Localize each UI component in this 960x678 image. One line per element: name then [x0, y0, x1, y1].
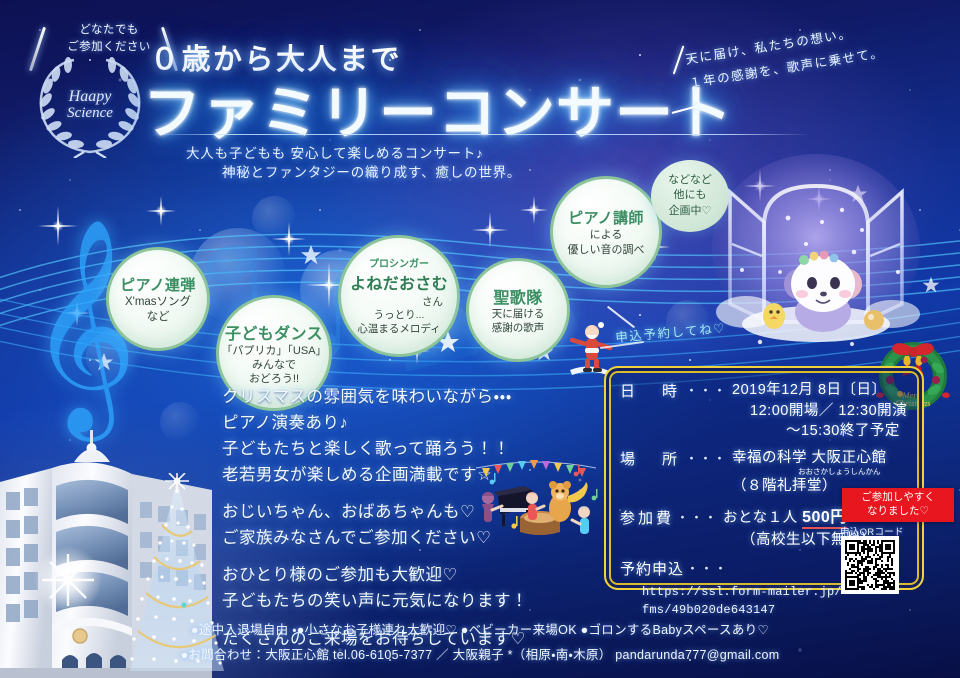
- bubble-line: による: [590, 228, 623, 242]
- detail-dots: ・・・: [685, 380, 727, 442]
- qr-code[interactable]: [841, 536, 899, 594]
- kicker-text: どなたでも ご参加ください: [54, 22, 164, 55]
- singer-name-suffix: さん: [422, 294, 443, 309]
- detail-label: 参加費: [620, 507, 674, 550]
- badge-line-1: ご参加しやすく: [861, 491, 934, 505]
- bubble-piano-duet[interactable]: ピアノ連弾 X'masソング など: [106, 247, 210, 351]
- sparkle: [146, 196, 176, 226]
- bubble-heading: ピアノ講師: [568, 207, 644, 228]
- bubble-line: X'masソング: [125, 295, 191, 310]
- bubble-line: 「パプリカ」「USA」: [221, 344, 326, 358]
- copy-line: クリスマスの雰囲気を味わいながら・・・: [222, 384, 528, 410]
- badge-line-2: なりました♡: [867, 505, 929, 519]
- detail-dots: ・・・: [686, 558, 728, 579]
- title-divider: [150, 134, 810, 135]
- bubble-line: 他にも: [674, 188, 707, 204]
- detail-dots: ・・・: [676, 507, 718, 550]
- datetime-date: 2019年12月 8日〔日〕: [732, 382, 886, 398]
- bubble-pro-singer[interactable]: プロシンガー よねだおさむ さん うっとり... 心温まるメロディ: [338, 235, 460, 357]
- footer-line-1: ●途中入退場自由 ・●小さなお子様連れ大歓迎♡ ●ベビーカー来場OK ●ゴロンす…: [0, 618, 960, 643]
- bubble-eyebrow: プロシンガー: [369, 255, 429, 270]
- singer-name: よねだおさむ: [350, 270, 448, 294]
- bubble-line: 優しい音の調べ: [568, 243, 645, 257]
- status-badge-easier-to-join: ご参加しやすく なりました♡: [842, 488, 954, 522]
- copy-line: ピアノ演奏あり♪: [222, 410, 528, 436]
- subtitle-line-1: 大人も子どもも 安心して楽しめるコンサート♪: [186, 142, 484, 162]
- bubble-line: など: [147, 310, 170, 325]
- bubble-line: 感謝の歌声: [492, 322, 545, 336]
- subtitle-line-2: 神秘とファンタジーの織り成す、癒しの世界。: [222, 161, 521, 181]
- bubble-heading: ピアノ連弾: [120, 274, 196, 295]
- animal-band-illustration: [472, 452, 600, 540]
- copy-line: おひとり様のご参加も大歓迎♡: [222, 562, 528, 588]
- emblem-wordmark: Haapy Science: [26, 52, 154, 158]
- copy-spacer: [222, 551, 528, 562]
- datetime-open: 12:00開場／ 12:30開演: [732, 401, 907, 422]
- bubble-heading: 聖歌隊: [493, 284, 542, 308]
- bubble-line: 企画中♡: [669, 204, 712, 220]
- reservation-url-line-2: fms/49b020de643147: [642, 601, 920, 619]
- bubble-line: 心温まるメロディ: [357, 323, 440, 337]
- bubble-choir[interactable]: 聖歌隊 天に届ける 感謝の歌声: [466, 258, 570, 362]
- emblem-line-1: Haapy: [69, 89, 112, 106]
- detail-label: 場 所: [620, 448, 683, 497]
- bubble-line: 天に届ける: [492, 308, 545, 322]
- fee-prefix: おとな１人: [723, 510, 802, 526]
- page-title: ファミリーコンサート: [143, 66, 733, 150]
- venue-name: 幸福の科学 大阪正心館: [732, 450, 887, 466]
- detail-dots: ・・・: [685, 448, 727, 497]
- bubble-piano-teacher[interactable]: ピアノ講師 による 優しい音の調べ: [550, 176, 662, 288]
- venue-ruby: おおさかしょうしんかん: [732, 467, 887, 476]
- poster-canvas: どなたでも ご参加ください: [0, 0, 960, 678]
- star-shape: [300, 244, 322, 266]
- handwritten-note: 天に届け、私たちの想い。 １年の感謝を、歌声に乗せて。: [684, 9, 942, 121]
- bubble-line: うっとり...: [374, 309, 425, 323]
- bubble-heading: 子どもダンス: [225, 320, 323, 344]
- detail-row-datetime: 日 時 ・・・ 2019年12月 8日〔日〕 12:00開場／ 12:30開演 …: [620, 380, 920, 442]
- bubble-line: などなど: [668, 173, 712, 189]
- bubble-more-coming[interactable]: などなど 他にも 企画中♡: [651, 160, 729, 232]
- footer-line-2: ●お問合わせ：大阪正心館 tel.06-6105-7377 ／ 大阪親子 *（相…: [0, 643, 960, 668]
- venue-floor: （８階礼拝堂）: [732, 478, 837, 494]
- datetime-end: 〜15:30終了予定: [732, 421, 907, 442]
- detail-value: 2019年12月 8日〔日〕 12:00開場／ 12:30開演 〜15:30終了…: [732, 380, 907, 442]
- kicker-line-1: どなたでも: [54, 22, 164, 39]
- sparkle: [520, 196, 548, 224]
- bubble-line: みんなで: [252, 358, 296, 372]
- detail-label: 予約申込: [620, 558, 684, 579]
- footer-notes: ●途中入退場自由 ・●小さなお子様連れ大歓迎♡ ●ベビーカー来場OK ●ゴロンす…: [0, 618, 960, 668]
- qr-code-image: [845, 540, 895, 590]
- copy-line: 子どもたちの笑い声に元気になります！: [222, 588, 528, 614]
- happy-science-emblem: Haapy Science: [26, 52, 154, 158]
- panda-window-illustration: [702, 152, 930, 360]
- emblem-line-2: Science: [67, 106, 113, 122]
- detail-label: 日 時: [620, 380, 683, 442]
